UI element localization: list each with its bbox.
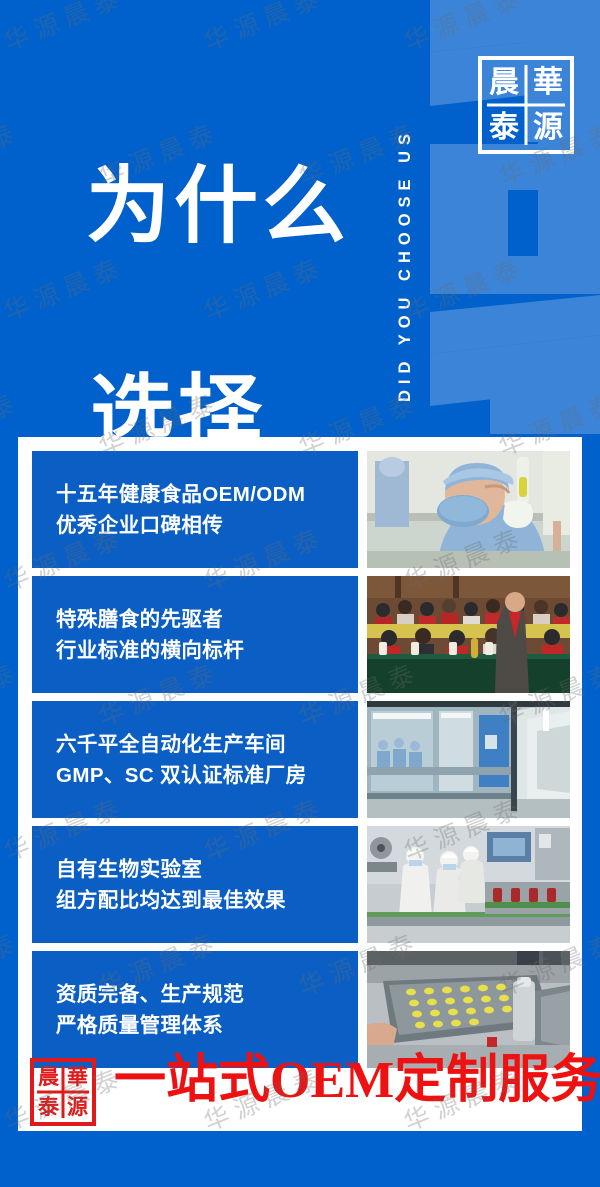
photo-cleanroom-corridor bbox=[367, 701, 570, 818]
feature-line-2: 优秀企业口碑相传 bbox=[56, 510, 358, 541]
brand-seal-red: 晨 華 泰 源 bbox=[30, 1058, 96, 1126]
feature-line-1: 十五年健康食品OEM/ODM bbox=[56, 479, 358, 510]
seal-char-1: 晨 bbox=[482, 60, 526, 105]
photo-production-line-workers bbox=[367, 826, 570, 943]
seal-char-4: 源 bbox=[526, 105, 570, 150]
feature-line-1: 资质完备、生产规范 bbox=[56, 979, 358, 1010]
poster-root: 为什么 选择 我们？ DID YOU CHOOSE US 晨 華 泰 源 十五年… bbox=[0, 0, 600, 1187]
feature-line-2: 组方配比均达到最佳效果 bbox=[56, 885, 358, 916]
feature-line-2: GMP、SC 双认证标准厂房 bbox=[56, 760, 358, 791]
footer-cta[interactable]: 一站式OEM定制服务 bbox=[32, 1045, 570, 1117]
feature-card[interactable]: 自有生物实验室 组方配比均达到最佳效果 bbox=[32, 826, 358, 943]
feature-line-2: 严格质量管理体系 bbox=[56, 1010, 358, 1041]
title-line-1: 为什么 bbox=[86, 156, 386, 260]
photo-lab-technician-vial bbox=[367, 451, 570, 568]
seal-char-1: 晨 bbox=[34, 1062, 63, 1092]
brand-seal-white: 晨 華 泰 源 bbox=[478, 56, 574, 154]
seal-char-3: 泰 bbox=[34, 1092, 63, 1122]
seal-char-2: 華 bbox=[526, 60, 570, 105]
seal-char-4: 源 bbox=[63, 1092, 92, 1122]
feature-card[interactable]: 十五年健康食品OEM/ODM 优秀企业口碑相传 bbox=[32, 451, 358, 568]
seal-char-2: 華 bbox=[63, 1062, 92, 1092]
vertical-tagline: DID YOU CHOOSE US bbox=[396, 22, 415, 402]
feature-row: 自有生物实验室 组方配比均达到最佳效果 bbox=[32, 826, 570, 943]
feature-card-list: 十五年健康食品OEM/ODM 优秀企业口碑相传 bbox=[32, 451, 570, 1068]
feature-line-1: 六千平全自动化生产车间 bbox=[56, 729, 358, 760]
feature-line-2: 行业标准的横向标杆 bbox=[56, 635, 358, 666]
feature-row: 特殊膳食的先驱者 行业标准的横向标杆 bbox=[32, 576, 570, 693]
feature-row: 十五年健康食品OEM/ODM 优秀企业口碑相传 bbox=[32, 451, 570, 568]
footer-cta-text: 一站式OEM定制服务 bbox=[114, 1053, 600, 1109]
photo-conference-audience bbox=[367, 576, 570, 693]
hero-section: 为什么 选择 我们？ DID YOU CHOOSE US 晨 華 泰 源 bbox=[0, 0, 600, 437]
content-panel: 十五年健康食品OEM/ODM 优秀企业口碑相传 bbox=[18, 437, 582, 1131]
seal-char-3: 泰 bbox=[482, 105, 526, 150]
feature-row: 六千平全自动化生产车间 GMP、SC 双认证标准厂房 bbox=[32, 701, 570, 818]
feature-card[interactable]: 六千平全自动化生产车间 GMP、SC 双认证标准厂房 bbox=[32, 701, 358, 818]
feature-line-1: 特殊膳食的先驱者 bbox=[56, 604, 358, 635]
feature-line-1: 自有生物实验室 bbox=[56, 854, 358, 885]
feature-card[interactable]: 特殊膳食的先驱者 行业标准的横向标杆 bbox=[32, 576, 358, 693]
